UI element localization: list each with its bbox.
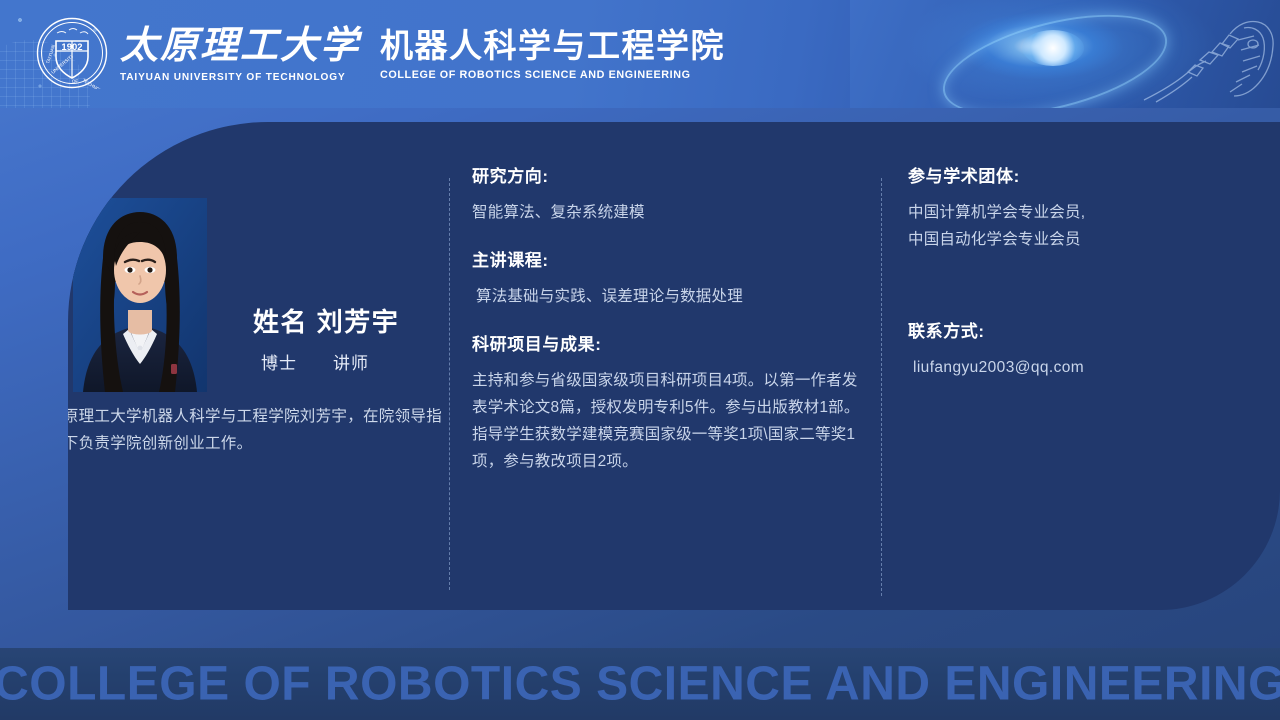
research-heading: 研究方向: <box>472 162 872 187</box>
projects-body: 主持和参与省级国家级项目科研项目4项。以第一作者发表学术论文8篇，授权发明专利5… <box>472 367 872 475</box>
profile-name: 姓名 刘芳宇 <box>253 302 399 339</box>
societies-line-2: 中国自动化学会专业会员 <box>908 226 1238 253</box>
profile-card: 姓名 刘芳宇 博士 讲师 太原理工大学机器人科学与工程学院刘芳宇，在院领导指导下… <box>68 122 1280 610</box>
footer-title: COLLEGE OF ROBOTICS SCIENCE AND ENGINEER… <box>0 657 1280 712</box>
energy-core-icon <box>1022 30 1084 66</box>
robot-hand-icon <box>1126 14 1276 108</box>
research-body: 智能算法、复杂系统建模 <box>472 199 872 226</box>
column-divider-left <box>449 178 450 590</box>
contact-email[interactable]: liufangyu2003@qq.com <box>908 354 1238 381</box>
courses-heading: 主讲课程: <box>472 246 872 271</box>
profile-bio: 太原理工大学机器人科学与工程学院刘芳宇，在院领导指导下负责学院创新创业工作。 <box>68 403 447 457</box>
profile-titles: 博士 讲师 <box>261 349 369 374</box>
college-name-block: 机器人科学与工程学院 COLLEGE OF ROBOTICS SCIENCE A… <box>380 26 725 81</box>
societies-heading: 参与学术团体: <box>908 162 1238 187</box>
svg-text:TAIYUAN: TAIYUAN <box>45 44 56 64</box>
university-name-cn: 太原理工大学 <box>120 24 360 68</box>
courses-body: 算法基础与实践、误差理论与数据处理 <box>472 283 872 310</box>
right-column: 参与学术团体: 中国计算机学会专业会员, 中国自动化学会专业会员 联系方式: l… <box>908 162 1238 381</box>
middle-column: 研究方向: 智能算法、复杂系统建模 主讲课程: 算法基础与实践、误差理论与数据处… <box>472 162 872 495</box>
column-spacer <box>908 253 1238 317</box>
university-name-block: 太原理工大学 TAIYUAN UNIVERSITY OF TECHNOLOGY <box>120 24 360 83</box>
societies-line-1: 中国计算机学会专业会员, <box>908 199 1238 226</box>
university-seal-icon: 1902 TAIYUAN UNIVERSITY OF TECHNOLOGY <box>36 17 108 89</box>
footer-band: COLLEGE OF ROBOTICS SCIENCE AND ENGINEER… <box>0 648 1280 720</box>
university-name-en: TAIYUAN UNIVERSITY OF TECHNOLOGY <box>120 71 350 83</box>
brand-logo-row: 1902 TAIYUAN UNIVERSITY OF TECHNOLOGY 太原… <box>36 17 725 89</box>
college-name-cn: 机器人科学与工程学院 <box>380 26 725 66</box>
header-band: 1902 TAIYUAN UNIVERSITY OF TECHNOLOGY 太原… <box>0 0 1280 108</box>
slide-root: 1902 TAIYUAN UNIVERSITY OF TECHNOLOGY 太原… <box>0 0 1280 720</box>
portrait-photo <box>73 198 207 392</box>
svg-text:OF: OF <box>72 78 79 84</box>
energy-orb-robot-hand-icon <box>850 0 1280 108</box>
projects-heading: 科研项目与成果: <box>472 330 872 355</box>
column-divider-right <box>881 178 882 596</box>
college-name-en: COLLEGE OF ROBOTICS SCIENCE AND ENGINEER… <box>380 69 718 81</box>
contact-heading: 联系方式: <box>908 317 1238 342</box>
svg-text:1902: 1902 <box>61 42 82 53</box>
